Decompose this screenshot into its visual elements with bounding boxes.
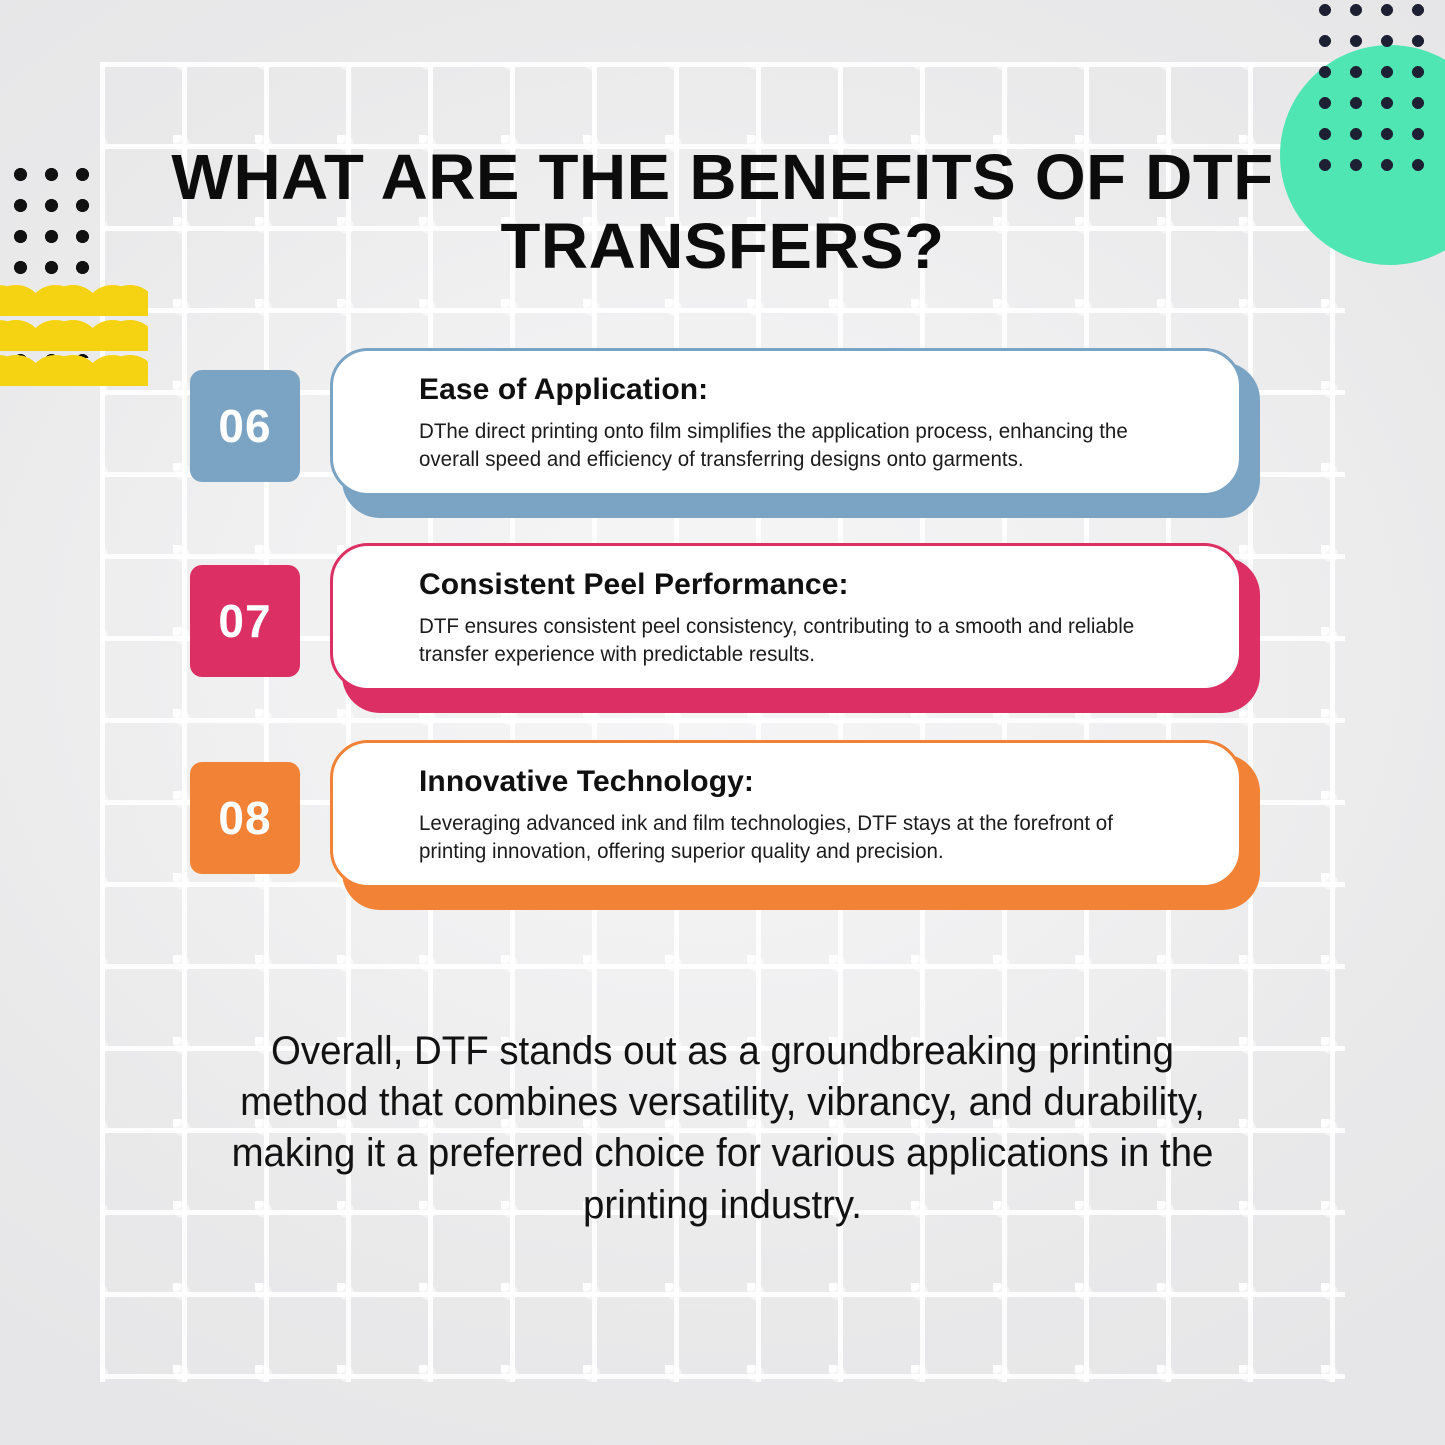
card-surface: Consistent Peel Performance: DTF ensures…: [330, 543, 1242, 691]
benefit-row: 06 Ease of Application: DThe direct prin…: [0, 348, 1445, 523]
yellow-arc-row: [0, 320, 148, 351]
benefit-row: 07 Consistent Peel Performance: DTF ensu…: [0, 543, 1445, 718]
closing-paragraph: Overall, DTF stands out as a groundbreak…: [202, 1026, 1244, 1231]
benefit-number-badge: 08: [190, 762, 300, 874]
page-title: WHAT ARE THE BENEFITS OF DTF TRANSFERS?: [139, 143, 1307, 281]
benefit-number-label: 08: [218, 791, 271, 845]
dot-grid-top-right-decoration: [1319, 4, 1441, 174]
benefit-row: 08 Innovative Technology: Leveraging adv…: [0, 740, 1445, 915]
card-surface: Innovative Technology: Leveraging advanc…: [330, 740, 1242, 888]
benefit-title: Ease of Application:: [419, 373, 1207, 407]
yellow-arc-row: [0, 285, 148, 316]
benefit-body: DTF ensures consistent peel consistency,…: [419, 612, 1172, 669]
card-surface: Ease of Application: DThe direct printin…: [330, 348, 1242, 496]
benefit-number-label: 07: [218, 594, 271, 648]
benefit-title: Innovative Technology:: [419, 765, 1207, 799]
benefit-number-label: 06: [218, 399, 271, 453]
benefit-card: Ease of Application: DThe direct printin…: [330, 348, 1260, 518]
benefit-title: Consistent Peel Performance:: [419, 568, 1207, 602]
benefit-body: Leveraging advanced ink and film technol…: [419, 809, 1172, 866]
benefit-card: Innovative Technology: Leveraging advanc…: [330, 740, 1260, 910]
benefit-body: DThe direct printing onto film simplifie…: [419, 417, 1172, 474]
benefit-number-badge: 07: [190, 565, 300, 677]
benefit-card: Consistent Peel Performance: DTF ensures…: [330, 543, 1260, 713]
benefit-number-badge: 06: [190, 370, 300, 482]
infographic-canvas: WHAT ARE THE BENEFITS OF DTF TRANSFERS? …: [0, 0, 1445, 1445]
